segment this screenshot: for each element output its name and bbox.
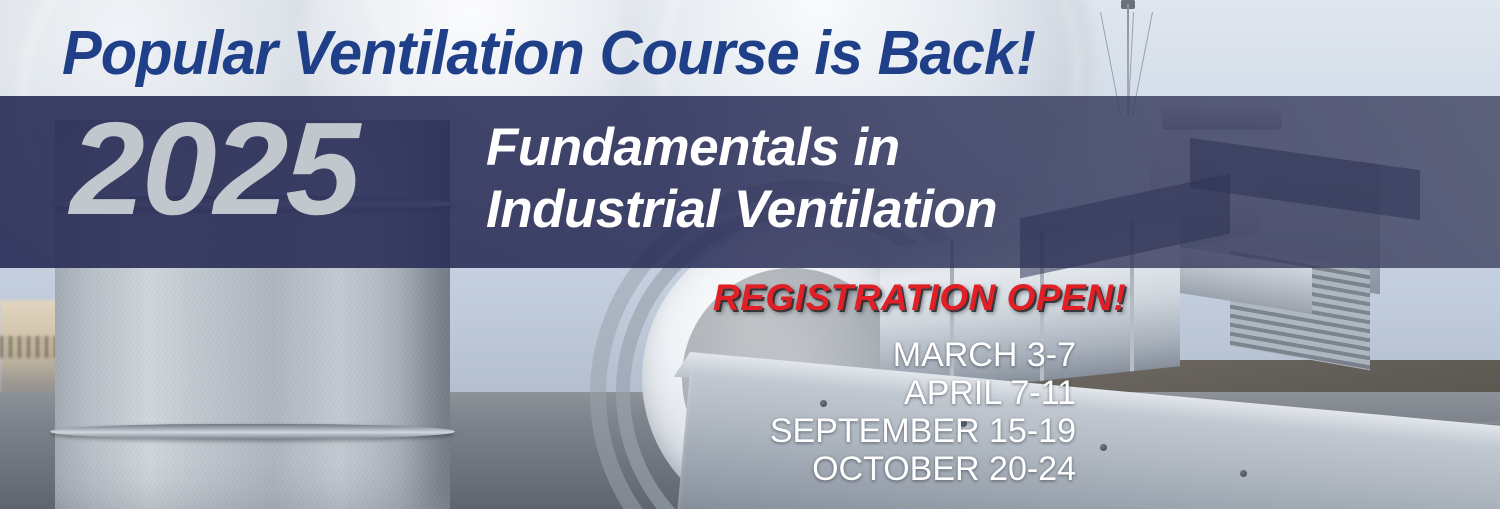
session-date-item: SEPTEMBER 15-19 bbox=[656, 412, 1076, 450]
course-title: Fundamentals in Industrial Ventilation bbox=[486, 117, 997, 241]
session-date-item: APRIL 7-11 bbox=[656, 374, 1076, 412]
registration-status-badge: REGISTRATION OPEN! bbox=[713, 277, 1126, 319]
session-date-item: OCTOBER 20-24 bbox=[656, 450, 1076, 488]
duct-bolt bbox=[1240, 470, 1247, 477]
session-dates-list: MARCH 3-7 APRIL 7-11 SEPTEMBER 15-19 OCT… bbox=[656, 336, 1076, 488]
duct-bolt bbox=[1100, 444, 1107, 451]
year-label: 2025 bbox=[70, 103, 357, 235]
course-title-line-2: Industrial Ventilation bbox=[486, 179, 997, 241]
course-title-line-1: Fundamentals in bbox=[486, 118, 900, 177]
session-date-item: MARCH 3-7 bbox=[656, 336, 1076, 374]
duct-silhouette bbox=[1020, 174, 1230, 279]
ventilation-course-banner: Popular Ventilation Course is Back! 2025… bbox=[0, 0, 1500, 509]
duct-band bbox=[50, 424, 455, 439]
page-title: Popular Ventilation Course is Back! bbox=[62, 18, 1035, 89]
